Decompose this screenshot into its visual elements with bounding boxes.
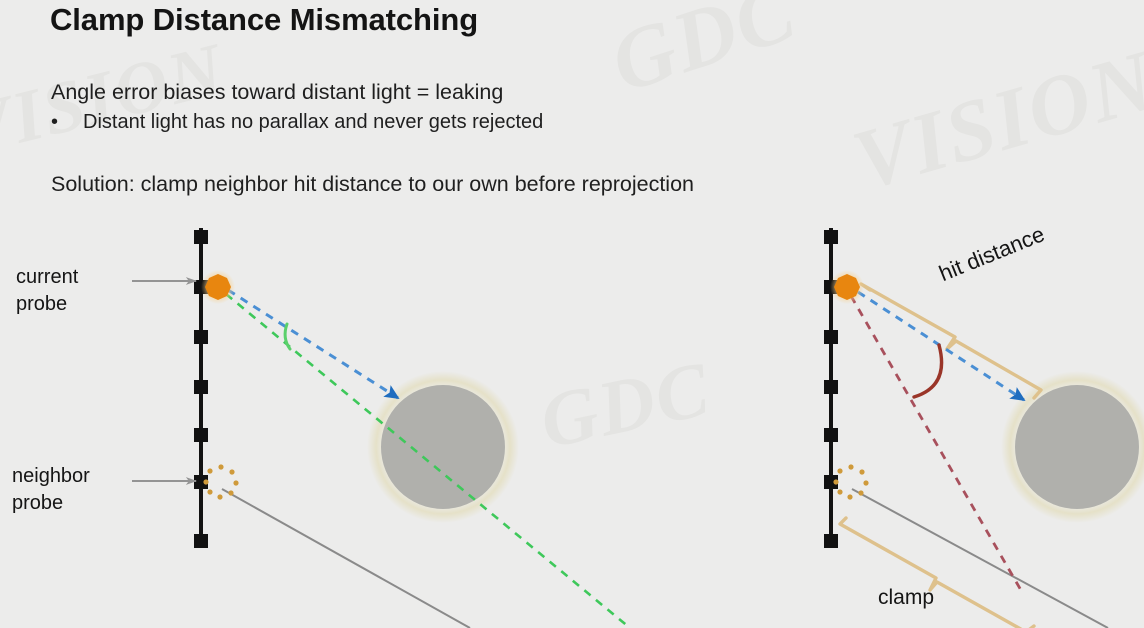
right-panel-diagram — [824, 228, 1144, 628]
occluder-circle-right — [1015, 385, 1139, 509]
angle-arc-right — [914, 345, 942, 397]
hit-distance-bracket — [861, 284, 1041, 398]
left-panel-diagram — [132, 228, 630, 628]
occluder-circle-left — [381, 385, 505, 509]
blue-hit-ray-left — [228, 290, 398, 398]
angle-arc-left — [285, 324, 290, 349]
red-neighbor-ray-right — [851, 296, 1022, 592]
diagram-layer — [0, 0, 1144, 628]
label-current-probe: current probe — [16, 264, 78, 318]
label-neighbor-probe: neighbor probe — [12, 463, 90, 517]
label-clamp: clamp — [878, 584, 934, 611]
slide-root: GDC VISION VISION GDC Clamp Distance Mis… — [0, 0, 1144, 628]
